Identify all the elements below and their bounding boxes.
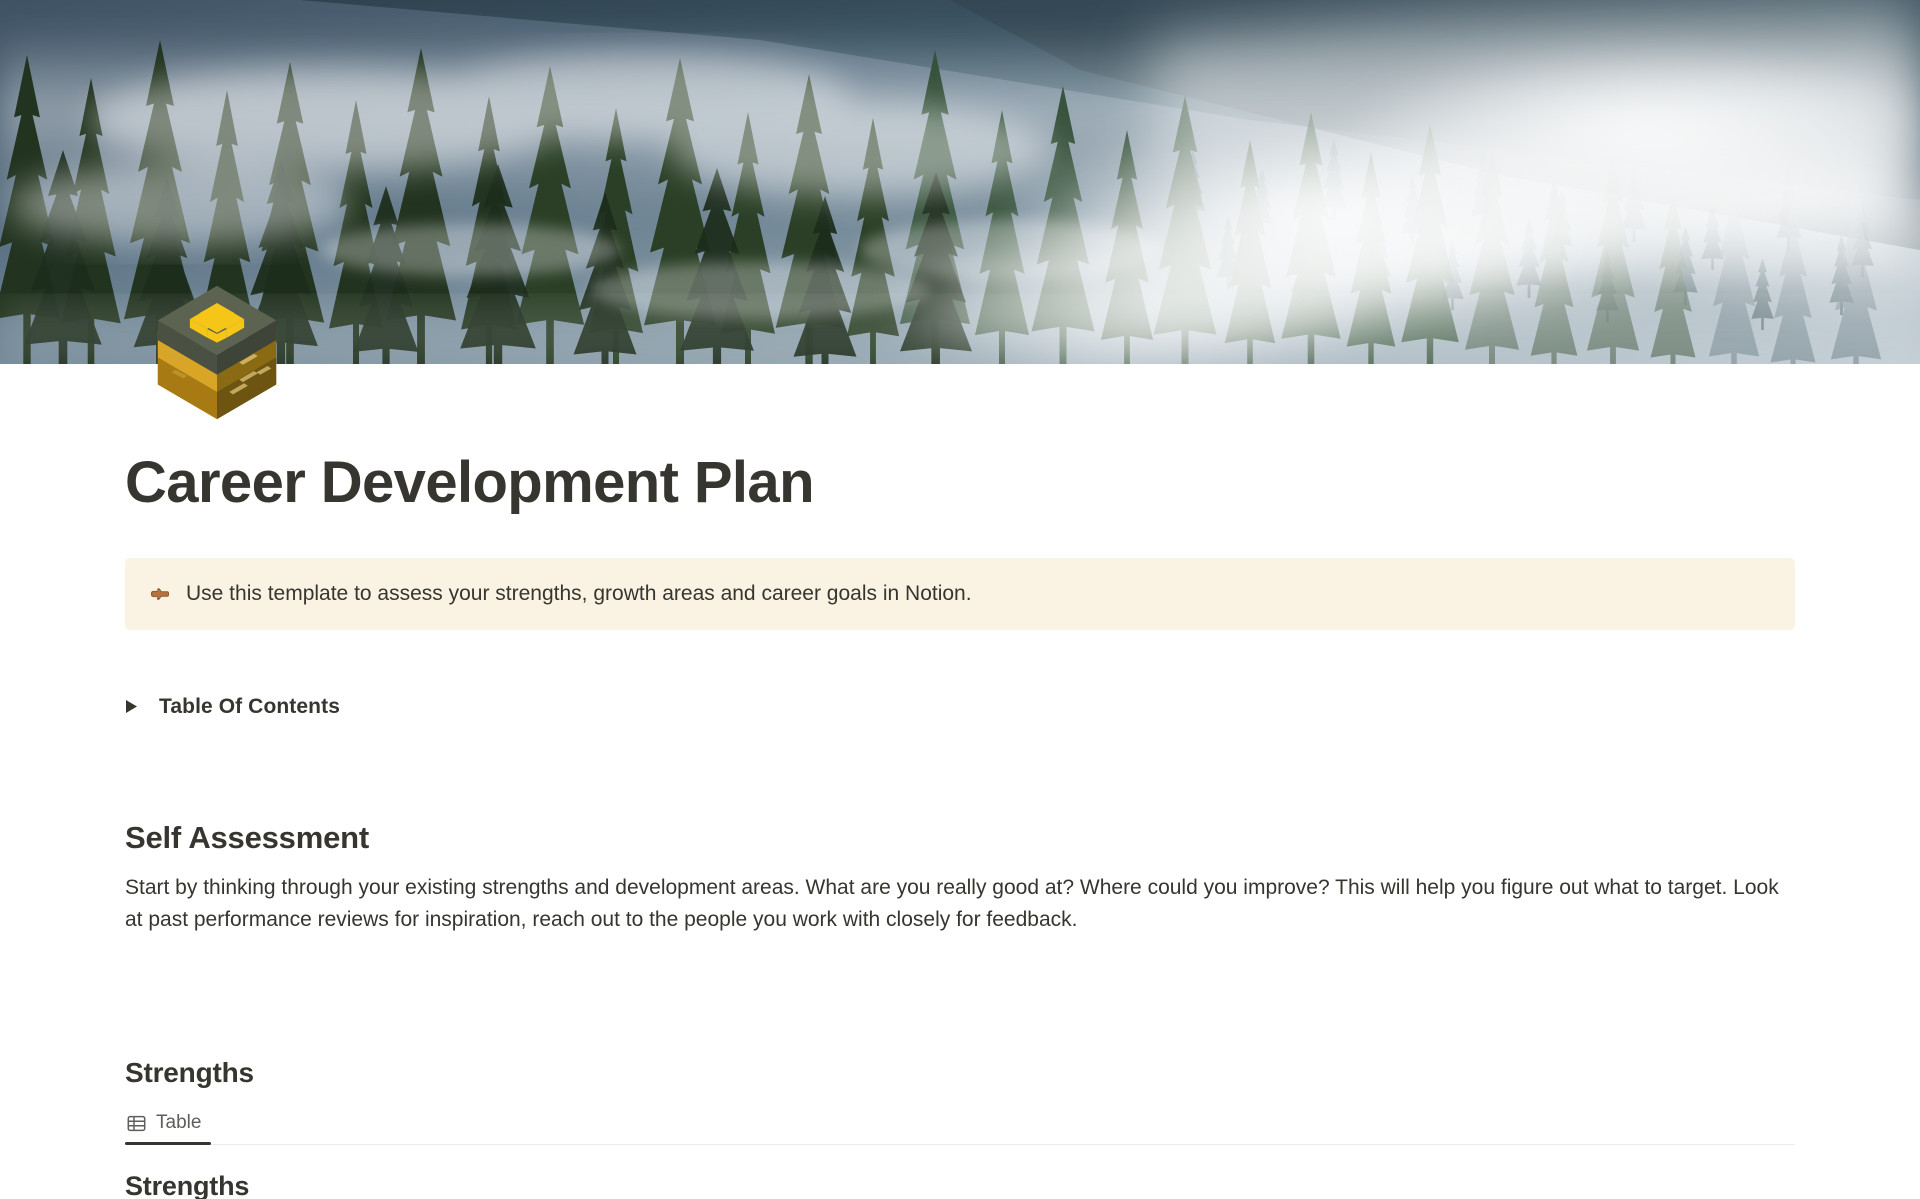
page-title[interactable]: Career Development Plan [125,450,1795,516]
toggle-label: Table Of Contents [159,695,340,719]
section-body-self-assessment[interactable]: Start by thinking through your existing … [125,872,1795,936]
database-title[interactable]: Strengths [125,1171,1795,1199]
triangle-right-icon[interactable] [125,699,147,714]
callout-text: Use this template to assess your strengt… [186,578,972,610]
section-heading-self-assessment[interactable]: Self Assessment [125,820,1795,856]
isometric-box-with-x-icon [143,276,291,424]
toggle-table-of-contents[interactable]: Table Of Contents [125,690,1795,724]
pointing-right-hand-emoji [147,584,177,604]
tab-table[interactable]: Table [125,1103,211,1143]
notion-page: Career Development Plan Use this templat… [0,0,1920,1199]
database-view-tabs: Table [125,1103,1795,1145]
callout-block[interactable]: Use this template to assess your strengt… [125,558,1795,630]
page-content: Career Development Plan Use this templat… [125,364,1795,1199]
tab-table-label: Table [156,1112,201,1134]
page-icon[interactable] [143,276,291,424]
section-heading-strengths[interactable]: Strengths [125,1057,1795,1089]
table-grid-icon [125,1112,147,1134]
